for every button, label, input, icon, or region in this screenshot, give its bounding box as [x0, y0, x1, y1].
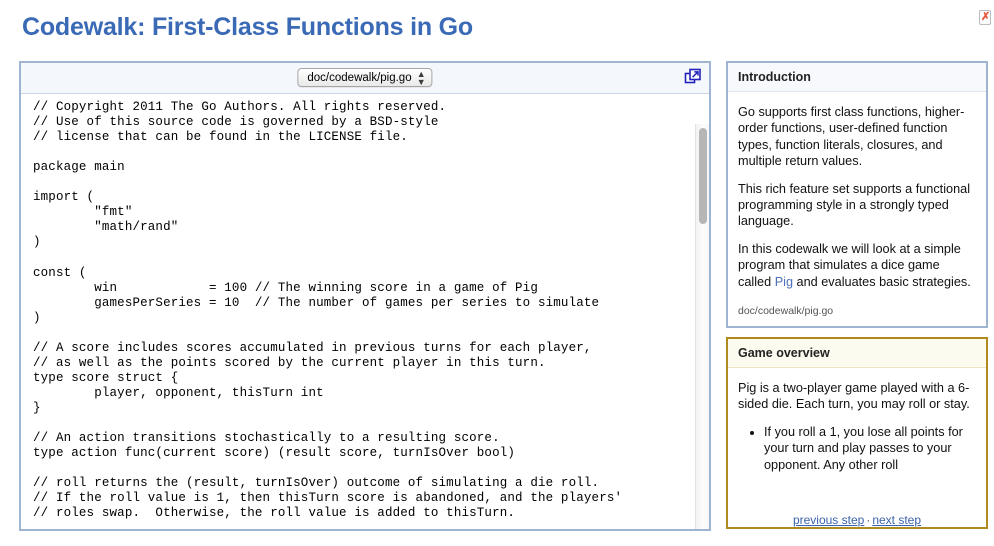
intro-panel-footer: doc/codewalk/pig.go — [728, 305, 986, 326]
code-scrollbar-thumb[interactable] — [699, 128, 707, 224]
broken-image-icon: ✗ — [979, 10, 991, 25]
intro-paragraph-1: Go supports first class functions, highe… — [738, 104, 976, 170]
file-select[interactable]: doc/codewalk/pig.go ▲▼ — [297, 68, 432, 87]
pig-link[interactable]: Pig — [775, 275, 793, 289]
game-panel-body: Pig is a two-player game played with a 6… — [728, 368, 986, 477]
codewalk-page: Codewalk: First-Class Functions in Go ✗ … — [0, 0, 994, 546]
game-paragraph-1: Pig is a two-player game played with a 6… — [738, 380, 976, 413]
code-body: // Copyright 2011 The Go Authors. All ri… — [21, 93, 709, 529]
intro-paragraph-3-after: and evaluates basic strategies. — [793, 275, 971, 289]
popout-icon[interactable] — [684, 68, 702, 86]
game-bullet-list: If you roll a 1, you lose all points for… — [738, 424, 976, 473]
code-panel: doc/codewalk/pig.go ▲▼ // Copyright 2011… — [19, 61, 711, 531]
code-panel-header: doc/codewalk/pig.go ▲▼ — [21, 63, 709, 93]
broken-image-glyph: ✗ — [981, 11, 990, 24]
intro-panel-title: Introduction — [728, 63, 986, 92]
side-column: Introduction Go supports first class fun… — [726, 61, 988, 539]
game-overview-panel: Game overview Pig is a two-player game p… — [726, 337, 988, 529]
previous-step-link[interactable]: previous step — [793, 513, 864, 527]
list-item: If you roll a 1, you lose all points for… — [764, 424, 976, 473]
file-select-value: doc/codewalk/pig.go — [307, 72, 411, 84]
step-nav: previous step·next step — [726, 513, 988, 527]
next-step-link[interactable]: next step — [872, 513, 921, 527]
intro-paragraph-2: This rich feature set supports a functio… — [738, 181, 976, 230]
stepper-arrows-icon: ▲▼ — [417, 70, 426, 86]
intro-paragraph-3: In this codewalk we will look at a simpl… — [738, 241, 976, 290]
source-code: // Copyright 2011 The Go Authors. All ri… — [21, 94, 709, 521]
intro-panel: Introduction Go supports first class fun… — [726, 61, 988, 328]
intro-panel-body: Go supports first class functions, highe… — [728, 92, 986, 305]
code-scrollbar[interactable] — [695, 124, 709, 529]
game-panel-title: Game overview — [728, 339, 986, 368]
page-title: Codewalk: First-Class Functions in Go — [22, 13, 473, 42]
